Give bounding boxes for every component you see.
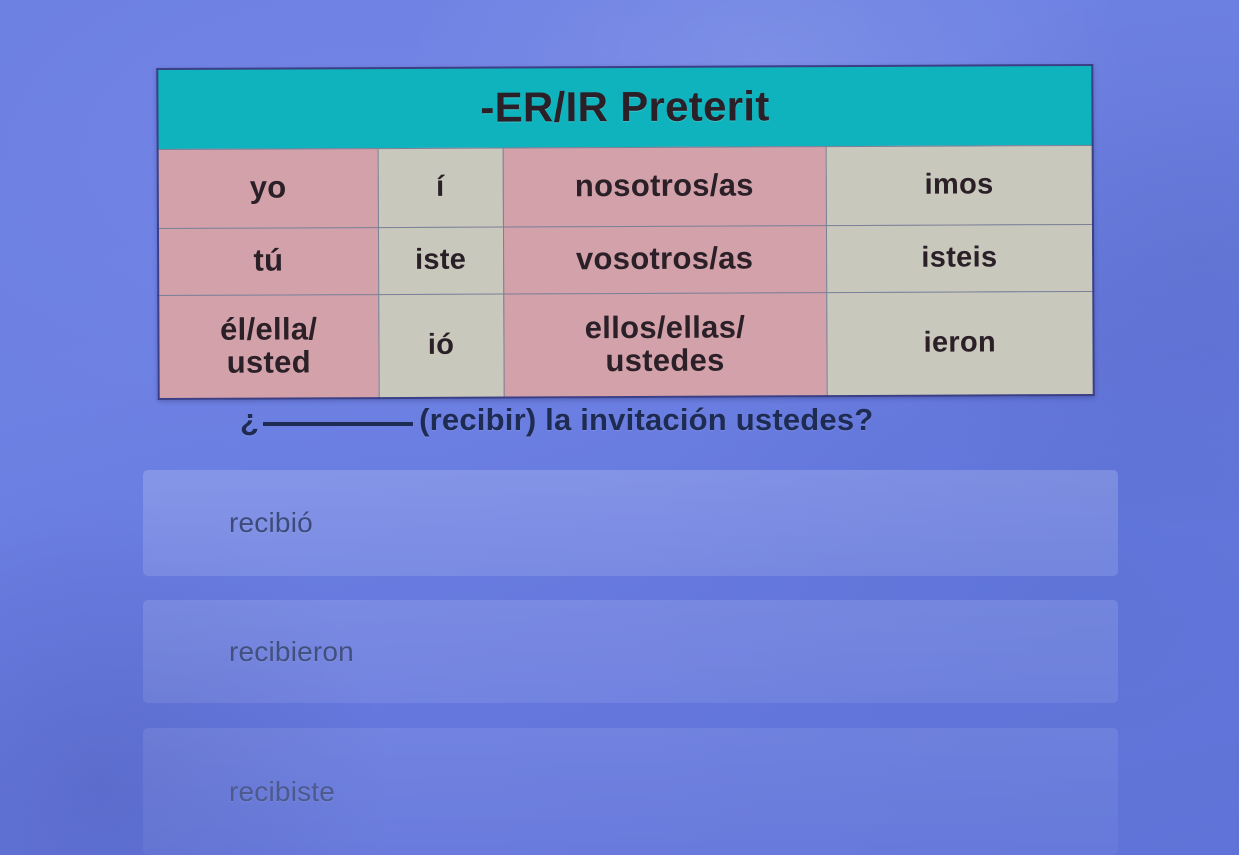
preterit-conjugation-table: -ER/IR Preterit yo í nosotros/as imos tú… [156, 64, 1094, 400]
pronoun-cell-tu: tú [158, 227, 378, 295]
pronoun-cell-vosotros: vosotros/as [503, 225, 826, 293]
table-header-row: -ER/IR Preterit [157, 65, 1092, 149]
pronoun-cell-el-ella-usted: él/ella/usted [158, 294, 378, 399]
table-title: -ER/IR Preterit [157, 65, 1092, 149]
table-row: tú iste vosotros/as isteis [158, 224, 1093, 295]
answer-option-label: recibió [229, 507, 313, 539]
ending-cell-yo: í [378, 148, 503, 228]
question-open-mark: ¿ [240, 402, 259, 437]
answer-option-recibiste[interactable]: recibiste [143, 728, 1118, 855]
question-prompt: ¿(recibir) la invitación ustedes? [240, 402, 1030, 438]
table-row: yo í nosotros/as imos [158, 145, 1093, 228]
pronoun-cell-yo: yo [158, 148, 378, 228]
answer-option-recibieron[interactable]: recibieron [143, 600, 1118, 703]
ending-cell-vosotros: isteis [826, 224, 1093, 292]
answer-option-label: recibiste [229, 776, 335, 808]
pronoun-cell-ellos-ellas-ustedes: ellos/ellas/ustedes [503, 292, 826, 397]
answer-options-list: recibió recibieron recibiste [143, 470, 1118, 855]
table-row: él/ella/usted ió ellos/ellas/ustedes ier… [158, 291, 1093, 399]
question-tail-text: (recibir) la invitación ustedes? [419, 402, 873, 437]
ending-cell-ellos-ellas-ustedes: ieron [826, 291, 1093, 396]
pronoun-cell-nosotros: nosotros/as [503, 146, 826, 226]
answer-option-recibio[interactable]: recibió [143, 470, 1118, 576]
ending-cell-tu: iste [378, 227, 503, 295]
ending-cell-nosotros: imos [826, 145, 1093, 225]
answer-option-label: recibieron [229, 636, 354, 668]
ending-cell-el-ella-usted: ió [378, 294, 503, 399]
question-blank [263, 404, 413, 426]
